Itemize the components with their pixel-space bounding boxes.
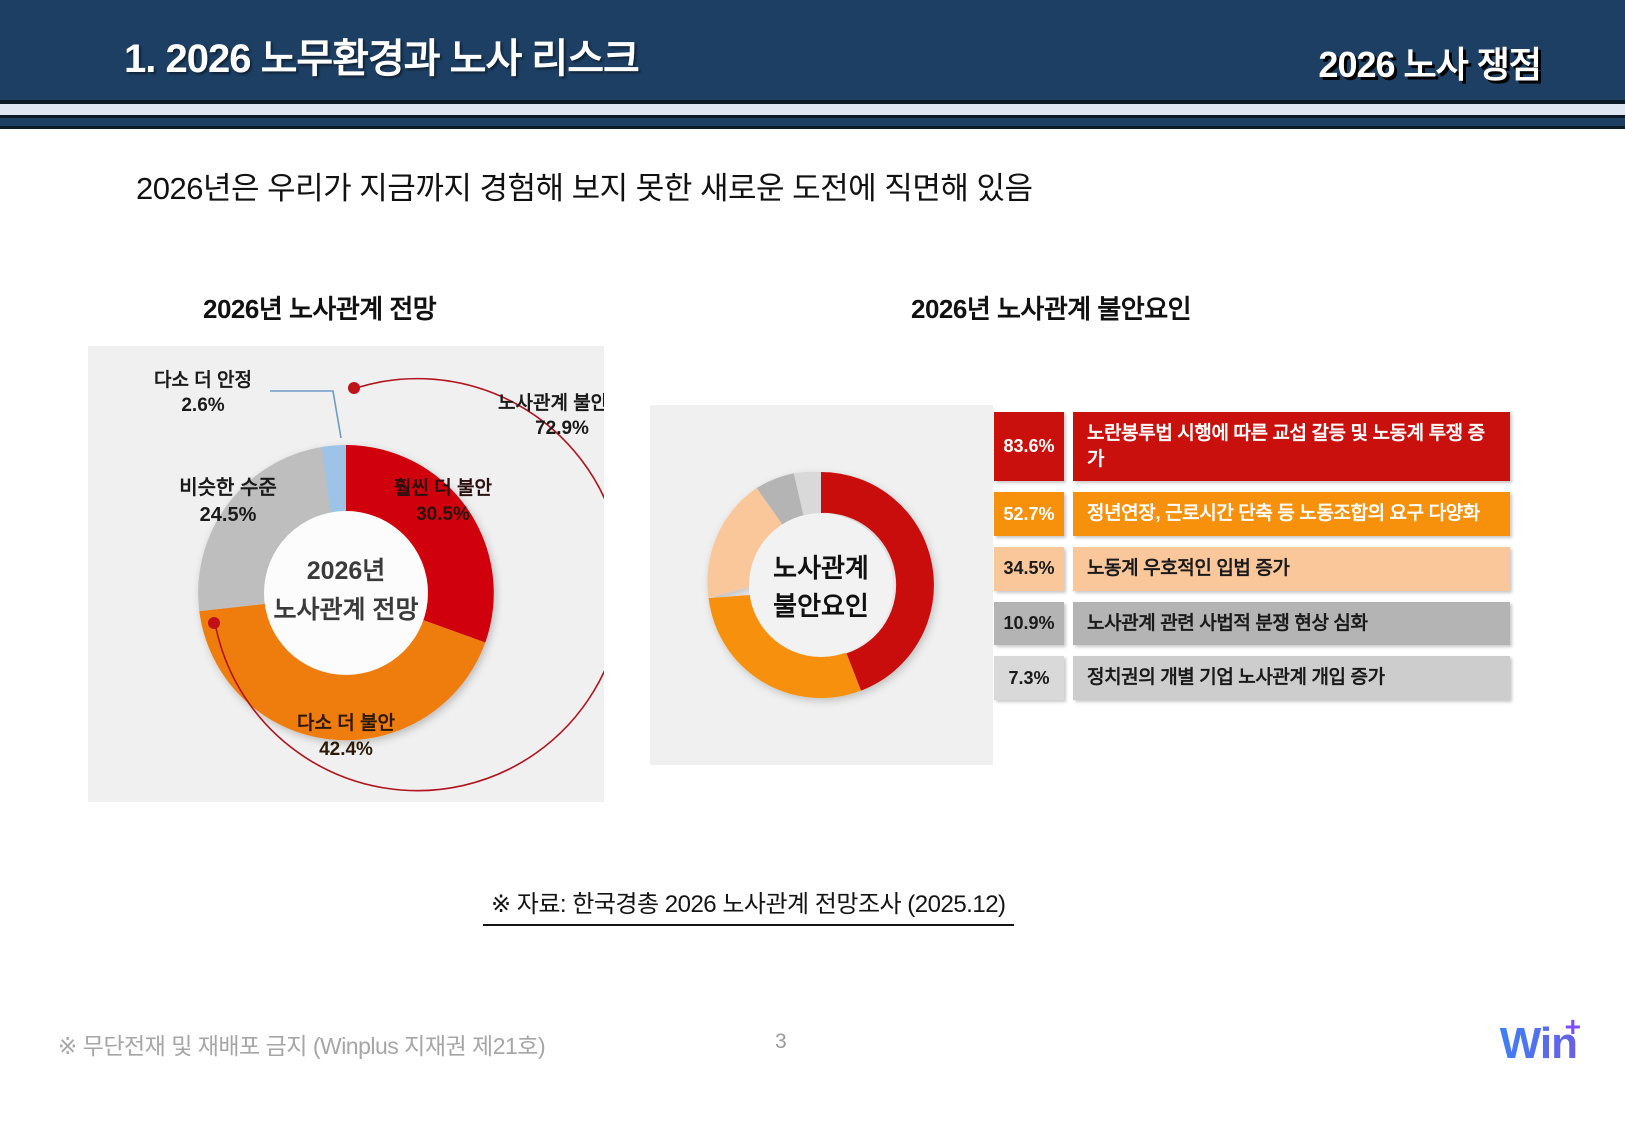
legend-percent: 34.5% bbox=[994, 547, 1064, 591]
page-title: 1. 2026 노무환경과 노사 리스크 bbox=[124, 26, 639, 84]
slice-label-similar: 비슷한 수준 bbox=[179, 476, 277, 499]
callout-stable-value: 2.6% bbox=[181, 395, 224, 416]
left-donut-chart: 다소 더 안정 2.6% 노사관계 불안 전망 72.9% 비슷한 수준 24.… bbox=[88, 346, 604, 802]
right-chart-title: 2026년 노사관계 불안요인 bbox=[911, 289, 1191, 326]
legend-percent: 52.7% bbox=[994, 492, 1064, 536]
annotation-arc-dot-end bbox=[208, 617, 220, 629]
legend-percent: 7.3% bbox=[994, 656, 1064, 700]
slice-label-somewhat-worse: 다소 더 불안 bbox=[297, 712, 395, 734]
left-donut-center-line1: 2026년 bbox=[307, 557, 386, 585]
slice-value-somewhat-worse: 42.4% bbox=[319, 739, 373, 760]
right-donut-center-line1: 노사관계 bbox=[773, 553, 869, 583]
section-title: 2026 노사 쟁점 bbox=[1318, 36, 1541, 88]
page-number: 3 bbox=[775, 1030, 787, 1054]
list-item[interactable]: 7.3% 정치권의 개별 기업 노사관계 개입 증가 bbox=[994, 656, 1510, 700]
right-chart-panel: 노사관계 불안요인 bbox=[650, 405, 993, 765]
lead-sentence: 2026년은 우리가 지금까지 경험해 보지 못한 새로운 도전에 직면해 있음 bbox=[136, 163, 1033, 208]
callout-leader-line bbox=[270, 391, 341, 438]
right-donut-chart: 노사관계 불안요인 bbox=[650, 405, 993, 765]
annotation-arc-dot-start bbox=[348, 382, 360, 394]
left-donut-hole bbox=[264, 511, 428, 675]
list-item[interactable]: 83.6% 노란봉투법 시행에 따른 교섭 갈등 및 노동계 투쟁 증가 bbox=[994, 412, 1510, 481]
footer-copyright: ※ 무단전재 및 재배포 금지 (Winplus 지재권 제21호) bbox=[58, 1027, 545, 1061]
factor-legend-list: 83.6% 노란봉투법 시행에 따른 교섭 갈등 및 노동계 투쟁 증가 52.… bbox=[994, 412, 1510, 711]
source-note: ※ 자료: 한국경총 2026 노사관계 전망조사 (2025.12) bbox=[483, 884, 1014, 926]
legend-label: 노사관계 관련 사법적 분쟁 현상 심화 bbox=[1073, 602, 1510, 646]
slice-value-much-worse: 30.5% bbox=[416, 504, 470, 525]
legend-label: 노동계 우호적인 입법 증가 bbox=[1073, 547, 1510, 591]
list-item[interactable]: 34.5% 노동계 우호적인 입법 증가 bbox=[994, 547, 1510, 591]
legend-label: 정년연장, 근로시간 단축 등 노동조합의 요구 다양화 bbox=[1073, 492, 1510, 536]
annotation-arc-label: 노사관계 불안 전망 bbox=[498, 392, 604, 414]
winplus-logo-plus-icon: + bbox=[1565, 1013, 1581, 1041]
callout-stable-label: 다소 더 안정 bbox=[154, 369, 252, 391]
legend-percent: 83.6% bbox=[994, 412, 1064, 481]
slice-label-much-worse: 훨씬 더 불안 bbox=[394, 477, 492, 499]
left-chart-panel: 다소 더 안정 2.6% 노사관계 불안 전망 72.9% 비슷한 수준 24.… bbox=[88, 346, 604, 802]
header-divider-navy bbox=[0, 118, 1625, 126]
left-donut-center-line2: 노사관계 전망 bbox=[274, 596, 419, 624]
header-divider-dark-bottom bbox=[0, 126, 1625, 129]
list-item[interactable]: 10.9% 노사관계 관련 사법적 분쟁 현상 심화 bbox=[994, 602, 1510, 646]
legend-percent: 10.9% bbox=[994, 602, 1064, 646]
legend-label: 노란봉투법 시행에 따른 교섭 갈등 및 노동계 투쟁 증가 bbox=[1073, 412, 1510, 481]
legend-label: 정치권의 개별 기업 노사관계 개입 증가 bbox=[1073, 656, 1510, 700]
right-donut-hole bbox=[749, 513, 893, 657]
list-item[interactable]: 52.7% 정년연장, 근로시간 단축 등 노동조합의 요구 다양화 bbox=[994, 492, 1510, 536]
left-chart-title: 2026년 노사관계 전망 bbox=[203, 289, 436, 326]
right-donut-center-line2: 불안요인 bbox=[773, 591, 869, 621]
header-divider-light bbox=[0, 104, 1625, 115]
slice-value-similar: 24.5% bbox=[200, 504, 257, 526]
annotation-arc-value: 72.9% bbox=[535, 418, 589, 439]
